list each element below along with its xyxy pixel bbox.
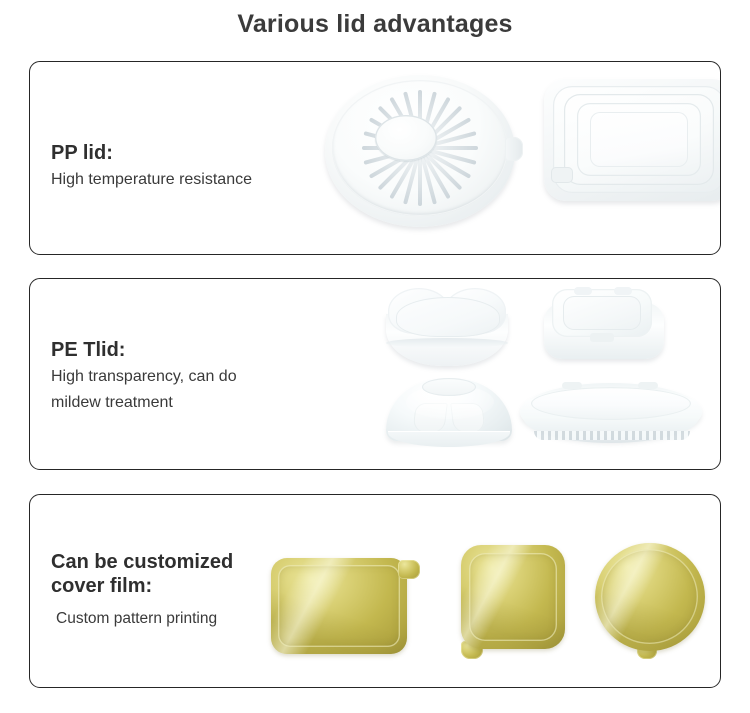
gold-foil-round-lid-emboss (601, 549, 698, 644)
gold-foil-rectangular-lid-tab (398, 560, 420, 579)
card-pe-lid: PE Tlid: High transparency, can do milde… (29, 278, 721, 470)
pe-dome-lid-left-facet (412, 403, 448, 433)
pe-oval-lid-tab-right (638, 382, 658, 389)
card-cover-film: Can be customized cover film: Custom pat… (29, 494, 721, 688)
gold-foil-rectangular-lid-plate (271, 558, 407, 654)
pp-rectangular-lid-notch (551, 167, 573, 183)
pp-round-lid-tab (505, 137, 523, 161)
card-cover-film-subtitle: Custom pattern printing (51, 606, 233, 632)
card-pe-lid-text: PE Tlid: High transparency, can do milde… (51, 338, 237, 416)
pe-heart-lid-image (382, 288, 514, 372)
pe-oval-lid-tab-left (562, 382, 582, 389)
pp-rectangular-lid-outer (544, 79, 721, 201)
pe-square-lid-body (544, 303, 664, 359)
pe-dome-lid-image (386, 379, 514, 453)
pe-heart-lid-top-face (396, 297, 500, 337)
gold-foil-rectangular-lid-image (271, 548, 419, 658)
pe-square-lid-tab-left (574, 287, 592, 295)
pp-rectangular-lid-ring-1 (553, 86, 721, 193)
pe-oval-lid-body (520, 383, 702, 441)
card-cover-film-text: Can be customized cover film: Custom pat… (51, 550, 233, 632)
pe-dome-lid-right-facet (450, 403, 486, 433)
gold-foil-square-lid-emboss (469, 553, 557, 641)
pe-square-lid-tab-front (590, 333, 614, 342)
gold-foil-round-lid-image (595, 543, 717, 665)
pe-oval-lid-skirt (523, 417, 699, 443)
card-pp-lid-heading: PP lid: (51, 141, 252, 165)
page-title: Various lid advantages (0, 8, 750, 40)
gold-foil-square-lid-image (455, 545, 575, 663)
pe-dome-lid-highlight (406, 385, 494, 419)
pp-round-lid-outer-rim (325, 75, 515, 227)
card-pe-lid-heading: PE Tlid: (51, 338, 237, 362)
gold-foil-round-lid-sheen (595, 543, 705, 651)
pe-square-lid-tab-right (614, 287, 632, 295)
card-pp-lid: PP lid: High temperature resistance (29, 61, 721, 255)
pe-square-lid-top-face (552, 289, 652, 337)
pe-square-lid-inner-panel (563, 296, 641, 330)
card-cover-film-heading: Can be customized cover film: (51, 550, 233, 598)
gold-foil-rectangular-lid-sheen (271, 558, 407, 654)
pe-square-lid-image (544, 285, 666, 371)
gold-foil-round-lid-tab (637, 641, 657, 659)
pp-round-lid-ribs (340, 86, 500, 210)
pe-heart-lid-right-lobe (444, 288, 506, 334)
pp-round-lid-image (325, 75, 521, 233)
card-pe-lid-subtitle: High transparency, can do mildew treatme… (51, 364, 237, 416)
pp-rectangular-lid-image (544, 79, 721, 219)
card-pp-lid-subtitle: High temperature resistance (51, 167, 252, 193)
pp-round-lid-center-hub (375, 115, 437, 161)
pp-round-lid-inner-rim (332, 80, 508, 216)
pe-dome-lid-dome (386, 379, 512, 441)
pe-heart-lid-ridge (386, 338, 508, 348)
pp-rectangular-lid-ring-3 (577, 103, 701, 176)
pe-dome-lid-rim (388, 431, 510, 447)
pp-rectangular-lid-panel (590, 112, 688, 167)
pe-oval-lid-top-face (531, 387, 691, 420)
pe-heart-lid-left-lobe (388, 288, 450, 334)
gold-foil-round-lid-plate (595, 543, 705, 651)
gold-foil-rectangular-lid-emboss (278, 565, 400, 647)
pe-heart-lid-base (386, 314, 508, 366)
gold-foil-square-lid-tab (461, 641, 483, 659)
pe-oval-lid-image (520, 383, 704, 453)
pe-dome-lid-cap (422, 378, 476, 396)
pp-rectangular-lid-ring-2 (564, 94, 714, 185)
gold-foil-square-lid-sheen (461, 545, 565, 649)
gold-foil-square-lid-plate (461, 545, 565, 649)
card-pp-lid-text: PP lid: High temperature resistance (51, 141, 252, 193)
pe-oval-lid-serration (534, 431, 690, 440)
